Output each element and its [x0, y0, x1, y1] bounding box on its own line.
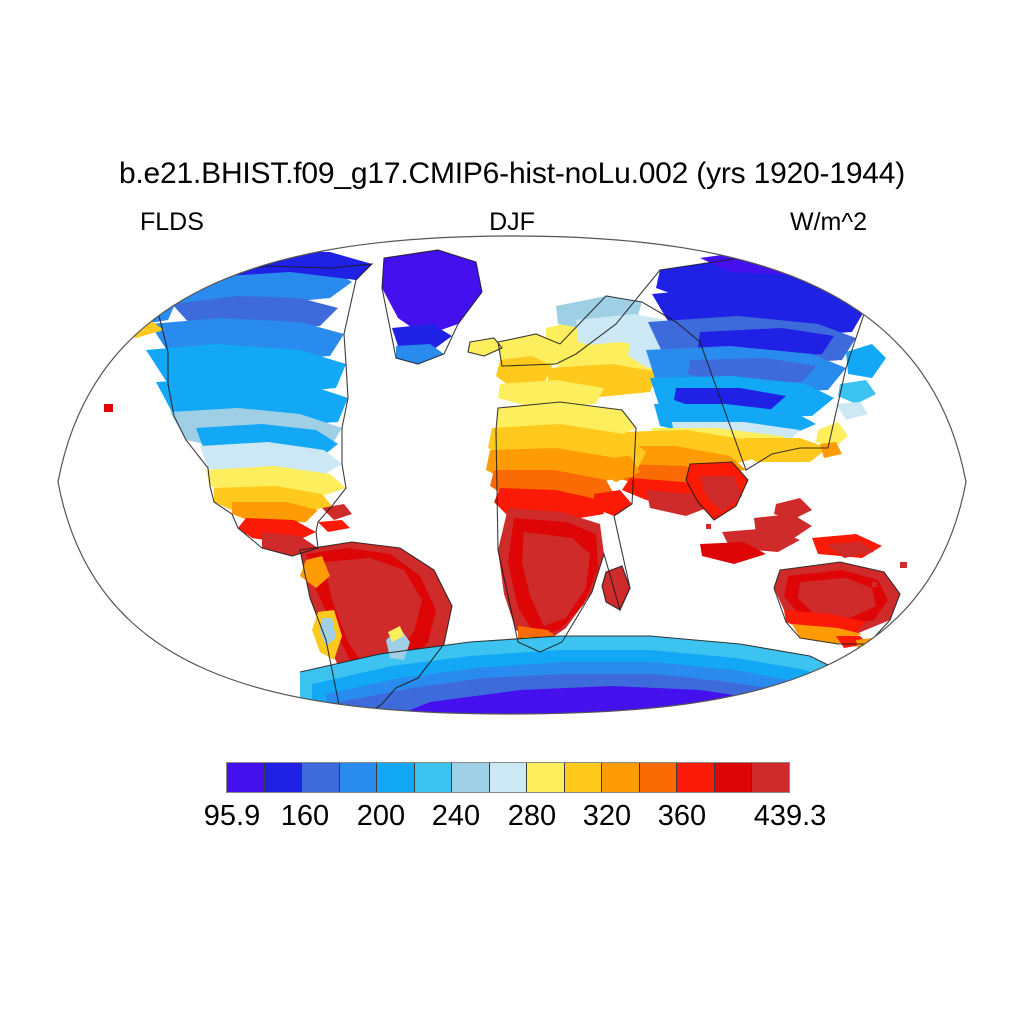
colorbar-swatch-1[interactable]	[265, 763, 303, 792]
colorbar-swatch-3[interactable]	[340, 763, 378, 792]
colorbar-tick-0: 95.9	[204, 800, 260, 833]
colorbar-tick-2: 200	[357, 800, 405, 833]
figure-canvas: b.e21.BHIST.f09_g17.CMIP6-hist-noLu.002 …	[0, 0, 1024, 1024]
colorbar-tick-labels: 95.9160200240280320360439.3	[0, 800, 1024, 844]
colorbar-swatch-11[interactable]	[640, 763, 678, 792]
colorbar-swatch-12[interactable]	[677, 763, 715, 792]
figure-title: b.e21.BHIST.f09_g17.CMIP6-hist-noLu.002 …	[0, 157, 1024, 191]
colorbar-swatch-10[interactable]	[602, 763, 640, 792]
colorbar-swatch-5[interactable]	[415, 763, 453, 792]
colorbar-swatch-8[interactable]	[527, 763, 565, 792]
colorbar-swatch-2[interactable]	[302, 763, 340, 792]
colorbar[interactable]	[226, 762, 790, 793]
colorbar-tick-4: 280	[508, 800, 556, 833]
colorbar-tick-7: 439.3	[754, 800, 827, 833]
world-map	[0, 232, 1024, 732]
colorbar-swatch-14[interactable]	[752, 763, 789, 792]
colorbar-swatch-9[interactable]	[565, 763, 603, 792]
colorbar-swatch-7[interactable]	[490, 763, 528, 792]
colorbar-tick-6: 360	[658, 800, 706, 833]
colorbar-swatch-0[interactable]	[227, 763, 265, 792]
colorbar-tick-3: 240	[432, 800, 480, 833]
colorbar-swatch-6[interactable]	[452, 763, 490, 792]
colorbar-tick-5: 320	[583, 800, 631, 833]
colorbar-tick-1: 160	[281, 800, 329, 833]
colorbar-swatch-4[interactable]	[377, 763, 415, 792]
colorbar-swatch-13[interactable]	[715, 763, 753, 792]
map-panel	[0, 232, 1024, 732]
